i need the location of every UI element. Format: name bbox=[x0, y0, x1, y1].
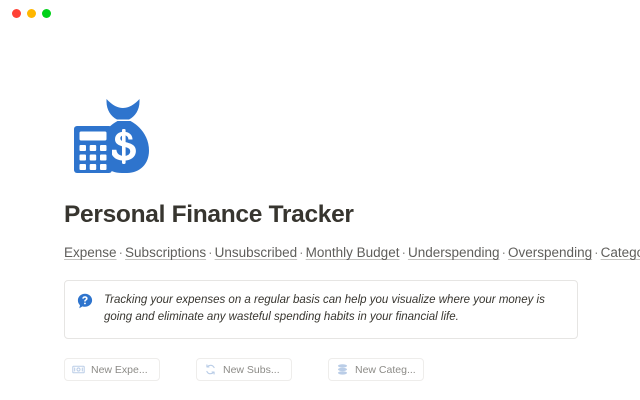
new-category-button[interactable]: New Categ... bbox=[328, 358, 424, 381]
question-mark-bubble-icon bbox=[77, 293, 93, 309]
tag-link-category[interactable]: Category bbox=[601, 245, 640, 260]
new-expense-button[interactable]: New Expe... bbox=[64, 358, 160, 381]
page-title: Personal Finance Tracker bbox=[64, 200, 578, 229]
tag-separator: · bbox=[399, 245, 408, 260]
tag-link-underspending[interactable]: Underspending bbox=[408, 245, 500, 260]
info-callout: Tracking your expenses on a regular basi… bbox=[64, 280, 578, 339]
tag-link-subscriptions[interactable]: Subscriptions bbox=[125, 245, 206, 260]
page-body: Personal Finance Tracker Expense·Subscri… bbox=[0, 88, 640, 381]
new-subscription-label: New Subs... bbox=[223, 364, 280, 376]
tag-separator: · bbox=[117, 245, 126, 260]
tag-separator: · bbox=[206, 245, 215, 260]
window-titlebar bbox=[0, 0, 640, 26]
tag-separator: · bbox=[297, 245, 306, 260]
new-subscription-button[interactable]: New Subs... bbox=[196, 358, 292, 381]
sync-arrows-icon bbox=[204, 363, 217, 376]
traffic-light-controls bbox=[12, 9, 51, 18]
close-window-button[interactable] bbox=[12, 9, 21, 18]
tag-link-monthly-budget[interactable]: Monthly Budget bbox=[306, 245, 400, 260]
tag-separator: · bbox=[592, 245, 601, 260]
money-bag-calculator-icon bbox=[64, 88, 160, 184]
app-window: Personal Finance Tracker Expense·Subscri… bbox=[0, 0, 640, 400]
new-expense-label: New Expe... bbox=[91, 364, 148, 376]
layers-stack-icon bbox=[336, 363, 349, 376]
tag-link-expense[interactable]: Expense bbox=[64, 245, 117, 260]
banknote-icon bbox=[72, 363, 85, 376]
minimize-window-button[interactable] bbox=[27, 9, 36, 18]
tag-separator: · bbox=[500, 245, 509, 260]
callout-text: Tracking your expenses on a regular basi… bbox=[104, 292, 563, 326]
new-category-label: New Categ... bbox=[355, 364, 416, 376]
action-button-row: New Expe... New Subs... bbox=[64, 358, 578, 381]
page-content: Personal Finance Tracker Expense·Subscri… bbox=[0, 88, 640, 381]
tag-link-list: Expense·Subscriptions·Unsubscribed·Month… bbox=[64, 243, 554, 263]
tag-link-unsubscribed[interactable]: Unsubscribed bbox=[215, 245, 298, 260]
tag-link-overspending[interactable]: Overspending bbox=[508, 245, 592, 260]
maximize-window-button[interactable] bbox=[42, 9, 51, 18]
